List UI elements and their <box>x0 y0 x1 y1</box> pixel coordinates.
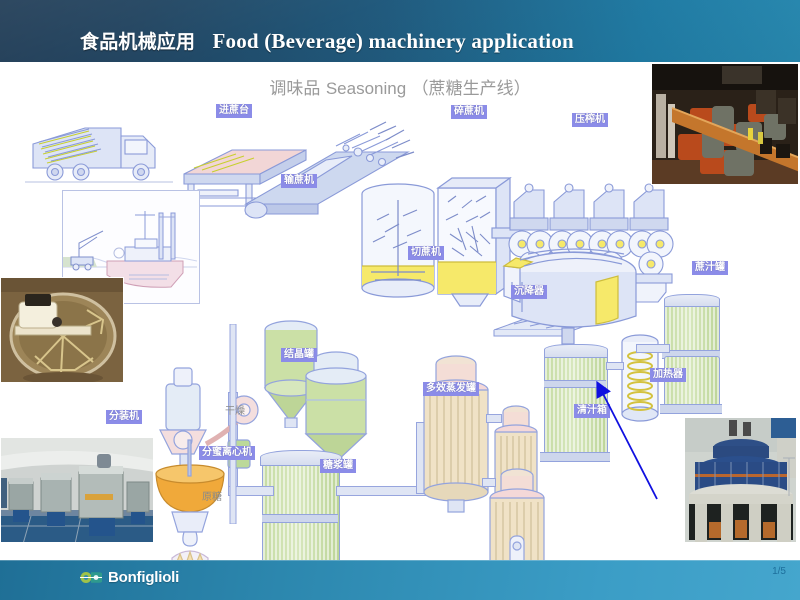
syrup-tank-band <box>262 514 338 523</box>
label-heater: 加热器 <box>650 368 686 382</box>
syrup-tank-sketch <box>262 458 340 560</box>
photo-centrifuge-hall <box>0 437 154 543</box>
label-cane-cutter: 切蔗机 <box>408 246 444 260</box>
crystallizer-lower-sketch <box>300 346 372 466</box>
label-raw-sugar: 原糖 <box>199 491 225 505</box>
photo-milling-plant <box>651 63 799 185</box>
clear-juice-tank-band <box>544 380 606 388</box>
page-number: 1/5 <box>772 566 786 577</box>
label-drying: 干燥 <box>222 405 248 419</box>
label-crystallizer-tank: 结晶罐 <box>281 348 317 362</box>
evap-link-pipe-2 <box>482 478 496 487</box>
label-molasses-centrifuge: 分蜜离心机 <box>199 446 255 460</box>
photo-clarifier-tower <box>684 417 797 543</box>
evap-link-pipe-1 <box>486 414 502 423</box>
label-packing-machine: 分装机 <box>106 410 142 424</box>
evaporator-1-sketch <box>420 350 492 514</box>
slide-content: 调味品 Seasoning （蔗糖生产线） <box>0 62 800 560</box>
clear-juice-tank-base <box>540 452 610 462</box>
slide: 食品机械应用 Food (Beverage) machinery applica… <box>0 0 800 600</box>
content-heading-en: Seasoning <box>326 79 406 98</box>
juice-tank-pipe <box>636 344 670 353</box>
label-clear-juice-tank: 清汁箱 <box>574 404 610 418</box>
content-heading-cn: 调味品 <box>269 79 320 99</box>
packing-frame <box>228 324 238 524</box>
page-title-cn: 食品机械应用 <box>80 31 195 53</box>
clear-juice-tank-top <box>544 344 608 358</box>
page-title: 食品机械应用 Food (Beverage) machinery applica… <box>80 27 574 54</box>
content-heading-paren: （蔗糖生产线） <box>412 79 531 99</box>
brand-logo[interactable]: Bonfiglioli <box>80 569 179 586</box>
label-cane-conveyor: 输蔗机 <box>281 174 317 188</box>
brand-name: Bonfiglioli <box>108 569 179 586</box>
label-cane-feeding-table: 进蔗台 <box>216 104 252 118</box>
photo-centrifuge-topview <box>0 277 124 383</box>
slide-header: 食品机械应用 Food (Beverage) machinery applica… <box>0 0 800 62</box>
cane-juice-tank-base <box>660 404 722 414</box>
cane-juice-tank-upper <box>664 300 720 354</box>
cane-juice-tank-lower <box>664 356 720 410</box>
bonfiglioli-gear-logo-icon <box>80 571 102 584</box>
syrup-evap-pipe <box>336 486 426 496</box>
heater-juice-pipe <box>606 362 624 370</box>
illustration-cane-truck <box>25 110 175 190</box>
label-cane-shredder: 碎蔗机 <box>451 105 487 119</box>
page-title-en: Food (Beverage) machinery application <box>212 29 573 53</box>
cane-juice-tank-upper-top <box>664 294 720 307</box>
label-milling-press: 压榨机 <box>572 113 608 127</box>
cane-cutter-sketch <box>355 180 441 310</box>
label-cane-juice-tank: 蔗汁罐 <box>692 261 728 275</box>
label-clarifier: 沉降器 <box>511 285 547 299</box>
label-syrup-tank: 糖浆罐 <box>320 459 356 473</box>
label-multi-effect-evaporator: 多效蒸发罐 <box>423 382 479 396</box>
